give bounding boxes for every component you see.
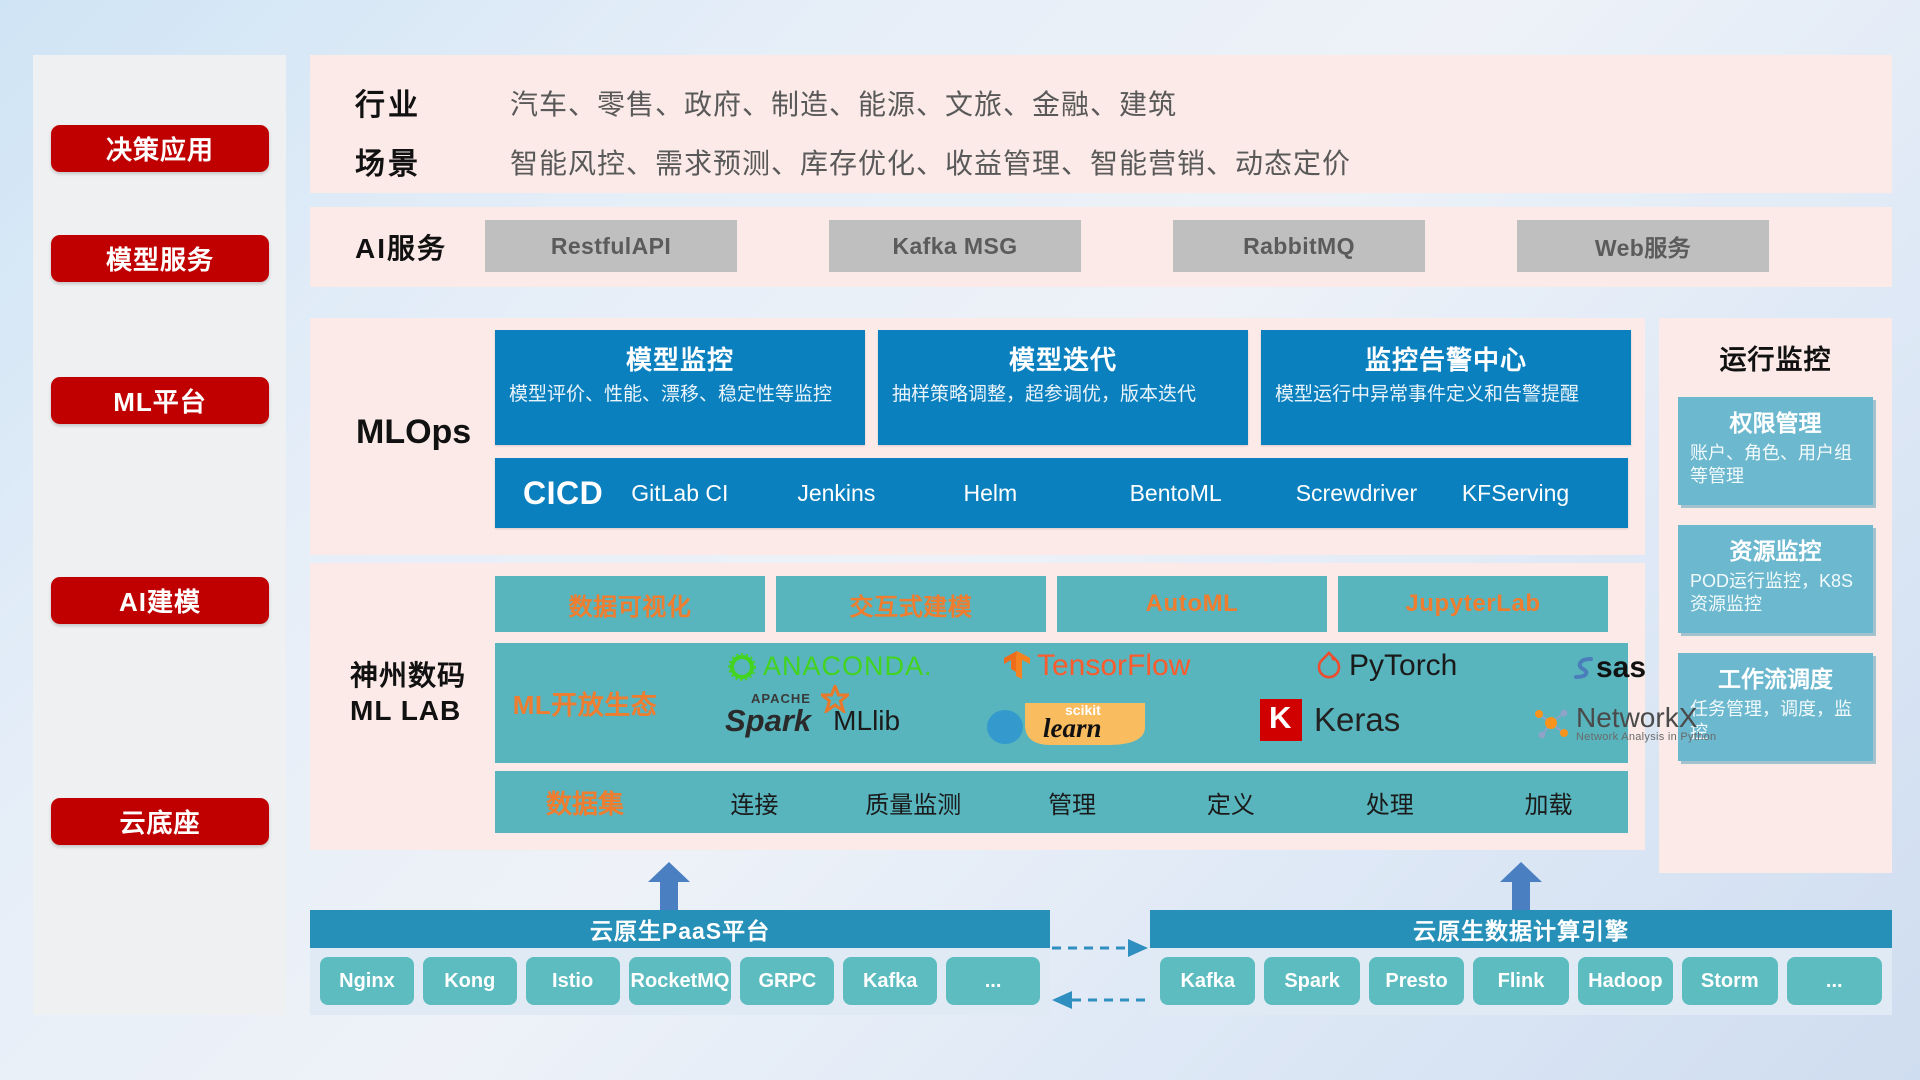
sas-swoosh-icon [1570,654,1598,682]
service-web[interactable]: Web服务 [1517,220,1769,272]
dataset-item-list: 连接 质量监测 管理 定义 处理 加载 [675,785,1628,820]
chip-label: GRPC [758,970,816,992]
chip-hadoop[interactable]: Hadoop [1578,957,1673,1005]
chip-label: Storm [1701,970,1759,992]
ai-service-label: AI服务 [355,227,447,267]
paas-platform-box: 云原生PaaS平台 Nginx Kong Istio RocketMQ GRPC… [310,910,1050,1015]
cicd-tool-kfserving[interactable]: KFServing [1462,480,1628,506]
tensorflow-wordmark: TensorFlow [1037,649,1190,683]
spark-star-icon [821,685,849,713]
ml-ecosystem-label: ML开放生态 [495,685,675,722]
rail-item-label: 决策应用 [106,130,214,167]
keras-logo: K Keras [1260,699,1400,741]
chip-label: Hadoop [1588,970,1662,992]
chip-label: ... [1826,970,1843,992]
chip-label: Kafka [1180,970,1234,992]
chip-label: Kafka [863,970,917,992]
mlops-card-list: 模型监控 模型评价、性能、漂移、稳定性等监控 模型迭代 抽样策略调整，超参调优，… [495,330,1631,445]
cicd-tool-list: GitLab CI Jenkins Helm BentoML Screwdriv… [631,480,1628,506]
cicd-tool-bentoml[interactable]: BentoML [1130,480,1296,506]
cicd-tool-helm[interactable]: Helm [963,480,1129,506]
chip-label: Istio [552,970,593,992]
card-desc: 抽样策略调整，超参调优，版本迭代 [892,383,1234,408]
keras-wordmark: Keras [1314,701,1400,739]
cicd-label: CICD [523,475,603,512]
ml-lab-tile-list: 数据可视化 交互式建模 AutoML JupyterLab [495,576,1608,632]
rail-item-cloud-base[interactable]: 云底座 [51,798,269,845]
dataset-item-manage[interactable]: 管理 [993,785,1152,820]
pytorch-wordmark: PyTorch [1349,649,1457,683]
sas-logo: sas [1570,651,1646,685]
anaconda-ring-icon [727,652,757,682]
rail-item-ml-platform[interactable]: ML平台 [51,377,269,424]
service-kafka-msg[interactable]: Kafka MSG [829,220,1081,272]
chip-more[interactable]: ... [946,957,1040,1005]
monitor-card-resource[interactable]: 资源监控 POD运行监控，K8S资源监控 [1678,525,1873,633]
networkx-tagline: Network Analysis in Python [1576,732,1716,743]
spark-wordmark: Spark [725,703,811,738]
paas-platform-title: 云原生PaaS平台 [310,910,1050,948]
card-desc: POD运行监控，K8S资源监控 [1690,570,1861,616]
dataset-item-load[interactable]: 加载 [1469,785,1628,820]
tile-interactive-modeling[interactable]: 交互式建模 [776,576,1046,632]
card-title: 工作流调度 [1690,660,1861,694]
chip-more[interactable]: ... [1787,957,1882,1005]
chip-spark[interactable]: Spark [1264,957,1359,1005]
spark-mllib-logo: APACHE Spark MLlib [725,703,900,739]
chip-flink[interactable]: Flink [1473,957,1568,1005]
layer-rail: 决策应用 模型服务 ML平台 AI建模 云底座 [33,55,286,1015]
monitor-card-permission[interactable]: 权限管理 账户、角色、用户组等管理 [1678,397,1873,505]
tile-label: AutoML [1146,590,1239,618]
run-monitor-title: 运行监控 [1659,318,1892,377]
card-desc: 模型运行中异常事件定义和告警提醒 [1275,383,1617,408]
mlops-card-model-monitoring[interactable]: 模型监控 模型评价、性能、漂移、稳定性等监控 [495,330,865,445]
card-desc: 模型评价、性能、漂移、稳定性等监控 [509,383,851,408]
data-engine-chip-list: Kafka Spark Presto Flink Hadoop Storm ..… [1150,948,1892,1005]
chip-label: Kong [444,970,495,992]
rail-item-label: AI建模 [119,582,201,619]
rail-item-label: 模型服务 [106,240,214,277]
chip-rocketmq[interactable]: RocketMQ [629,957,732,1005]
chip-nginx[interactable]: Nginx [320,957,414,1005]
spark-apache-label: APACHE [751,691,811,706]
pytorch-logo: PyTorch [1315,649,1457,683]
dataset-row: 数据集 连接 质量监测 管理 定义 处理 加载 [495,771,1628,833]
chip-presto[interactable]: Presto [1369,957,1464,1005]
chip-kong[interactable]: Kong [423,957,517,1005]
card-desc: 账户、角色、用户组等管理 [1690,442,1861,488]
chip-label: Flink [1498,970,1545,992]
tile-label: 交互式建模 [850,587,973,622]
ml-lab-label: 神州数码 ML LAB [350,658,466,728]
chip-label: Spark [1284,970,1340,992]
chip-label: Presto [1385,970,1447,992]
keras-mark-icon: K [1260,699,1302,741]
tile-data-visualization[interactable]: 数据可视化 [495,576,765,632]
anaconda-wordmark: ANACONDA. [763,651,933,682]
tile-jupyterlab[interactable]: JupyterLab [1338,576,1608,632]
tile-label: JupyterLab [1405,590,1540,618]
service-label: RestfulAPI [551,233,671,260]
cicd-tool-jenkins[interactable]: Jenkins [797,480,963,506]
chip-label: Nginx [339,970,395,992]
dataset-label: 数据集 [495,784,675,821]
cicd-tool-screwdriver[interactable]: Screwdriver [1296,480,1462,506]
scenario-label: 场景 [355,139,421,183]
tensorflow-mark-icon [1000,649,1034,683]
card-title: 权限管理 [1690,404,1861,438]
tile-automl[interactable]: AutoML [1057,576,1327,632]
service-label: RabbitMQ [1243,233,1355,260]
card-title: 模型监控 [509,340,851,377]
service-rabbitmq[interactable]: RabbitMQ [1173,220,1425,272]
cicd-bar: CICD GitLab CI Jenkins Helm BentoML Scre… [495,458,1628,528]
scenario-value: 智能风控、需求预测、库存优化、收益管理、智能营销、动态定价 [510,142,1351,182]
chip-kafka[interactable]: Kafka [843,957,937,1005]
ai-service-panel: AI服务 RestfulAPI Kafka MSG RabbitMQ Web服务 [310,207,1892,287]
rail-item-ai-modeling[interactable]: AI建模 [51,577,269,624]
paas-up-arrow-icon [648,862,690,908]
architecture-diagram: 决策应用 模型服务 ML平台 AI建模 云底座 行业 汽车、零售、政府、制造、能… [0,0,1920,1080]
industry-scenario-panel: 行业 汽车、零售、政府、制造、能源、文旅、金融、建筑 场景 智能风控、需求预测、… [310,55,1892,193]
dataset-item-quality-monitor[interactable]: 质量监测 [834,785,993,820]
pytorch-flame-icon [1315,650,1343,682]
rail-item-label: ML平台 [113,382,207,419]
sas-wordmark: sas [1596,651,1646,685]
chip-istio[interactable]: Istio [526,957,620,1005]
data-engine-box: 云原生数据计算引擎 Kafka Spark Presto Flink Hadoo… [1150,910,1892,1015]
scikit-learn-logo: scikit learn [985,701,1149,752]
card-title: 监控告警中心 [1275,340,1617,377]
mlops-card-model-iteration[interactable]: 模型迭代 抽样策略调整，超参调优，版本迭代 [878,330,1248,445]
networkx-logo: NetworkX Network Analysis in Python [1530,703,1716,743]
chip-label: ... [985,970,1002,992]
data-engine-up-arrow-icon [1500,862,1542,908]
dataset-item-process[interactable]: 处理 [1310,785,1469,820]
chip-label: RocketMQ [631,970,730,992]
dataset-item-connect[interactable]: 连接 [675,785,834,820]
service-restful-api[interactable]: RestfulAPI [485,220,737,272]
cicd-tool-gitlab-ci[interactable]: GitLab CI [631,480,797,506]
rail-item-model-service[interactable]: 模型服务 [51,235,269,282]
ml-ecosystem-logo-grid: ANACONDA. TensorFlow PyTorch [675,643,1628,763]
chip-storm[interactable]: Storm [1682,957,1777,1005]
industry-value: 汽车、零售、政府、制造、能源、文旅、金融、建筑 [510,83,1177,123]
paas-chip-list: Nginx Kong Istio RocketMQ GRPC Kafka ... [310,948,1050,1005]
ml-lab-label-line1: 神州数码 [350,658,466,693]
service-label: Web服务 [1595,229,1691,263]
tensorflow-logo: TensorFlow [1000,649,1190,683]
learn-word: learn [1043,713,1102,744]
run-monitor-panel: 运行监控 权限管理 账户、角色、用户组等管理 资源监控 POD运行监控，K8S资… [1659,318,1892,873]
bidirectional-connector [1050,930,1150,1016]
mlops-panel: MLOps 模型监控 模型评价、性能、漂移、稳定性等监控 模型迭代 抽样策略调整… [310,318,1645,555]
networkx-wordmark: NetworkX [1576,704,1716,732]
chip-kafka[interactable]: Kafka [1160,957,1255,1005]
ml-lab-label-line2: ML LAB [350,693,466,728]
mlops-label: MLOps [356,413,471,452]
rail-item-decision-app[interactable]: 决策应用 [51,125,269,172]
mlops-card-alert-center[interactable]: 监控告警中心 模型运行中异常事件定义和告警提醒 [1261,330,1631,445]
data-engine-title: 云原生数据计算引擎 [1150,910,1892,948]
anaconda-logo: ANACONDA. [727,651,933,682]
ml-ecosystem-row: ML开放生态 ANACONDA. TensorFlow [495,643,1628,763]
card-title: 模型迭代 [892,340,1234,377]
networkx-graph-icon [1530,703,1572,743]
ai-service-list: RestfulAPI Kafka MSG RabbitMQ Web服务 [485,220,1872,272]
card-title: 资源监控 [1690,532,1861,566]
tile-label: 数据可视化 [569,587,692,622]
industry-label: 行业 [355,80,421,124]
keras-k-letter: K [1269,700,1291,736]
ml-lab-panel: 神州数码 ML LAB 数据可视化 交互式建模 AutoML JupyterLa… [310,563,1645,850]
dataset-item-define[interactable]: 定义 [1151,785,1310,820]
chip-grpc[interactable]: GRPC [740,957,834,1005]
service-label: Kafka MSG [892,233,1017,260]
rail-item-label: 云底座 [119,803,200,840]
